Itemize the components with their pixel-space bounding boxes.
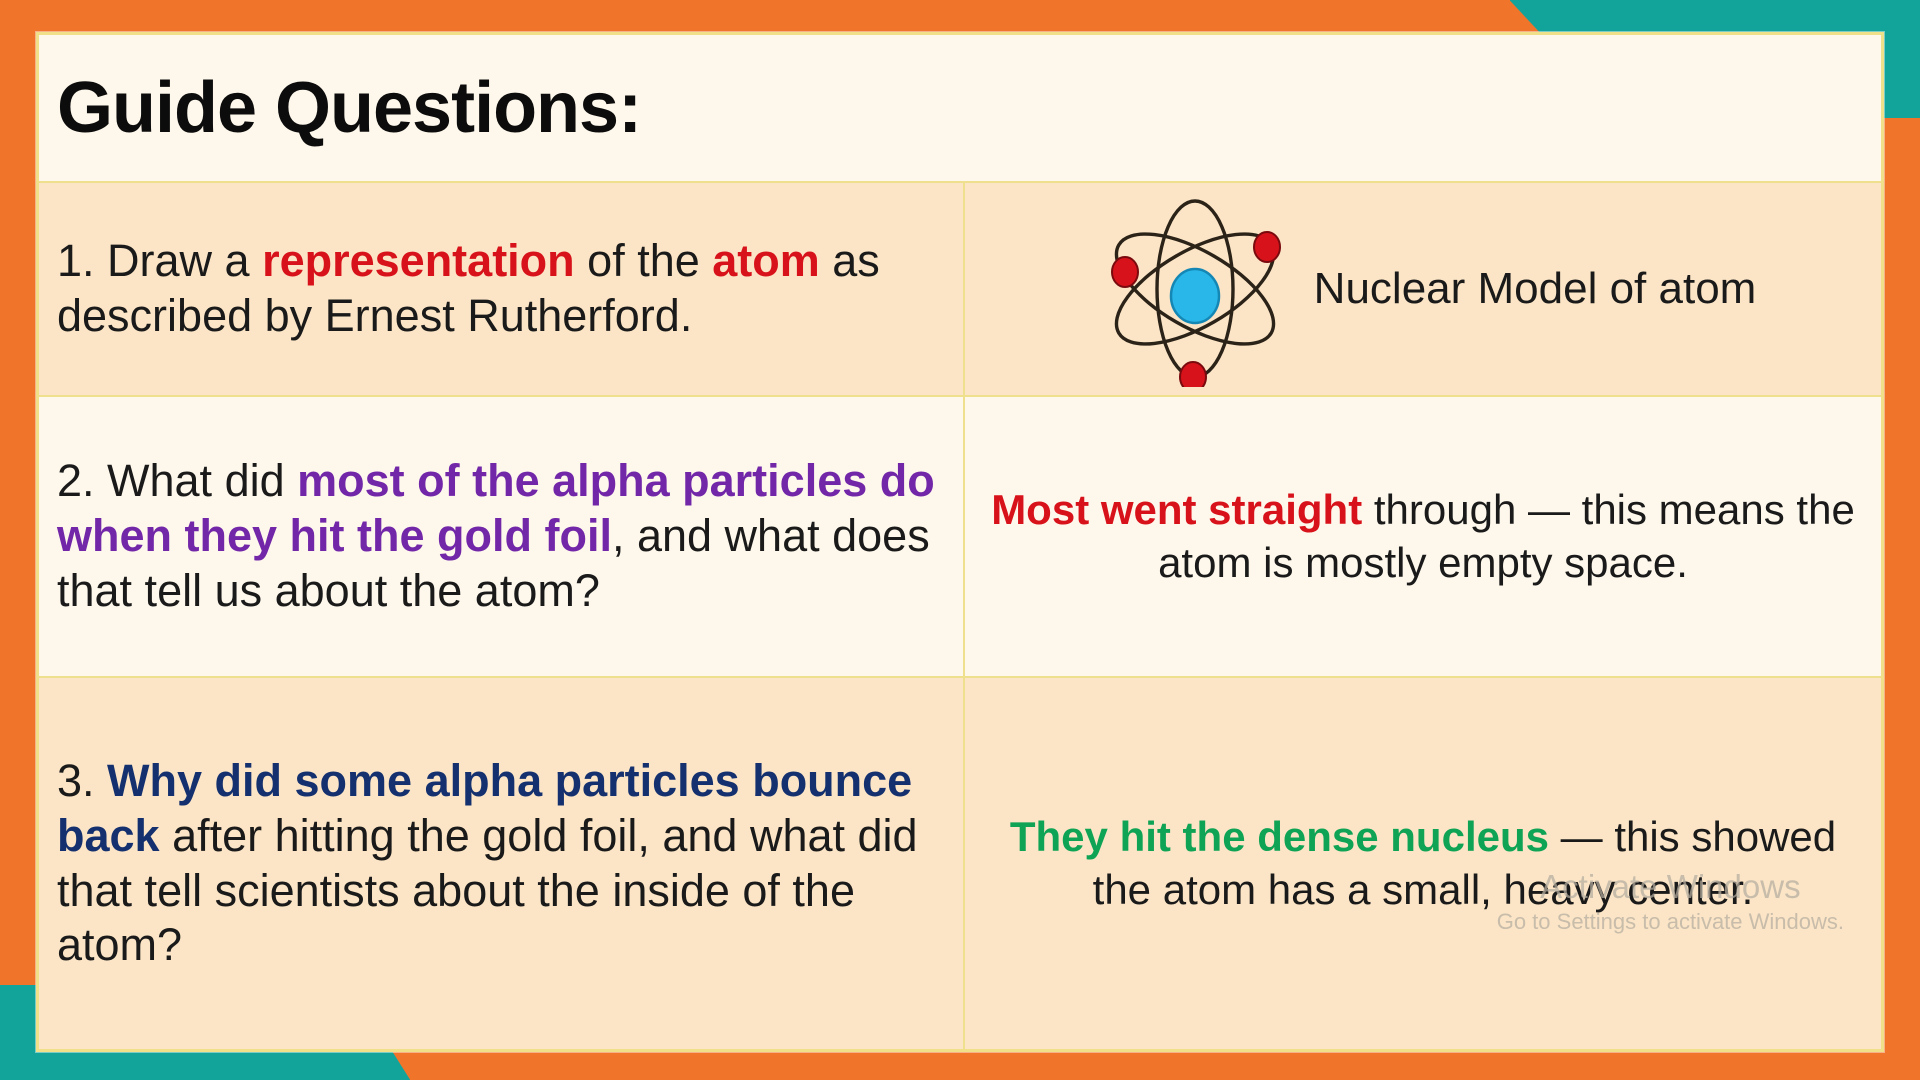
guide-questions-table: 1. Draw a representation of the atom as … — [39, 183, 1881, 1049]
emphasis-purple: most of the alpha particles do when they… — [57, 455, 935, 561]
content-card: Guide Questions: 1. Draw a representatio… — [36, 32, 1884, 1052]
electron-icon — [1254, 232, 1280, 262]
emphasis-green: They hit the dense nucleus — [1010, 813, 1549, 860]
slide-canvas: Guide Questions: 1. Draw a representatio… — [0, 0, 1920, 1080]
electron-icon — [1180, 362, 1206, 387]
atom-nucleus-icon — [1171, 269, 1219, 323]
atom-diagram-group: Nuclear Model of atom — [991, 192, 1855, 387]
atom-nuclear-model-icon — [1090, 192, 1300, 387]
orange-left-edge-decor — [0, 0, 14, 988]
answer-text-3: They hit the dense nucleus — this showed… — [991, 811, 1855, 917]
emphasis-red: Most went straight — [991, 486, 1362, 533]
question-text-3: 3. Why did some alpha particles bounce b… — [57, 754, 943, 974]
orange-right-edge-decor — [1900, 118, 1920, 1080]
question-cell-2: 2. What did most of the alpha particles … — [39, 397, 965, 676]
question-cell-3: 3. Why did some alpha particles bounce b… — [39, 678, 965, 1049]
table-row: 1. Draw a representation of the atom as … — [39, 183, 1881, 397]
question-text-1: 1. Draw a representation of the atom as … — [57, 234, 943, 344]
answer-cell-1: Nuclear Model of atom — [965, 183, 1881, 395]
table-row: 2. What did most of the alpha particles … — [39, 397, 1881, 678]
answer-cell-2: Most went straight through — this means … — [965, 397, 1881, 676]
atom-diagram-label: Nuclear Model of atom — [1314, 264, 1757, 314]
question-cell-1: 1. Draw a representation of the atom as … — [39, 183, 965, 395]
table-row: 3. Why did some alpha particles bounce b… — [39, 678, 1881, 1049]
answer-text-2: Most went straight through — this means … — [991, 484, 1855, 590]
title-band: Guide Questions: — [39, 35, 1881, 183]
emphasis-navy: Why did some alpha particles bounce back — [57, 755, 912, 861]
answer-cell-3: They hit the dense nucleus — this showed… — [965, 678, 1881, 1049]
page-title: Guide Questions: — [57, 72, 641, 144]
electron-icon — [1112, 257, 1138, 287]
emphasis-red: atom — [712, 235, 820, 286]
emphasis-red: representation — [262, 235, 575, 286]
question-text-2: 2. What did most of the alpha particles … — [57, 454, 943, 619]
